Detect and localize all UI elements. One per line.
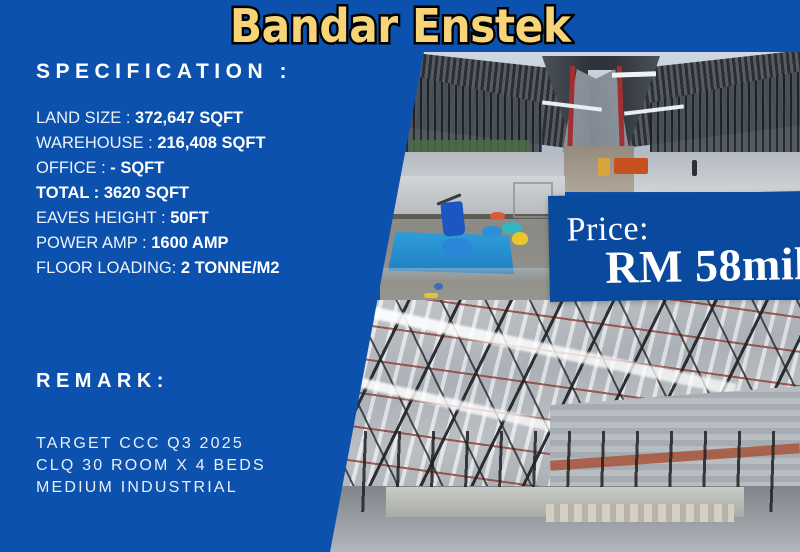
spec-row-eaves-height: EAVES HEIGHT : 50FT	[36, 206, 336, 231]
construction-machine	[614, 158, 648, 174]
spec-row-power-amp: POWER AMP : 1600 AMP	[36, 231, 336, 256]
wet-floor-sheen	[380, 268, 565, 282]
floor-debris-blue	[434, 283, 443, 290]
remark-line-zoning: MEDIUM INDUSTRIAL	[36, 477, 336, 499]
spec-value-floor-loading: 2 TONNE/M2	[181, 259, 280, 277]
spec-row-land-size: LAND SIZE : 372,647 SQFT	[36, 106, 336, 131]
remark-section: REMARK: TARGET CCC Q3 2025 CLQ 30 ROOM X…	[36, 370, 336, 499]
spec-label-warehouse: WAREHOUSE :	[36, 134, 157, 152]
blue-bucket	[440, 201, 465, 237]
specification-section: SPECIFICATION : LAND SIZE : 372,647 SQFT…	[36, 60, 336, 281]
spec-value-total: TOTAL : 3620 SQFT	[36, 184, 189, 202]
spec-label-office: OFFICE :	[36, 159, 110, 177]
poster-header: Bandar Enstek	[0, 0, 800, 52]
property-advertisement-poster: Bandar Enstek SPECIFICATION : LAND SIZE …	[0, 0, 800, 552]
spec-value-warehouse: 216,408 SQFT	[157, 134, 265, 152]
spec-value-office: - SQFT	[110, 159, 164, 177]
spec-value-eaves-height: 50FT	[170, 209, 209, 227]
photo-warehouse-interior-roof-truss	[330, 300, 800, 552]
remark-heading: REMARK:	[36, 370, 336, 393]
remark-line-clq-rooms: CLQ 30 ROOM X 4 BEDS	[36, 455, 336, 477]
spec-label-power-amp: POWER AMP :	[36, 234, 151, 252]
blue-bowl	[482, 226, 502, 237]
spec-value-land-size: 372,647 SQFT	[135, 109, 243, 127]
scaffolding	[513, 182, 553, 218]
spec-row-floor-loading: FLOOR LOADING: 2 TONNE/M2	[36, 256, 336, 281]
photo-construction-floor-buckets	[380, 176, 565, 306]
spec-label-floor-loading: FLOOR LOADING:	[36, 259, 181, 277]
spec-value-power-amp: 1600 AMP	[151, 234, 228, 252]
orange-bowl	[490, 212, 505, 220]
photo-warehouse-exterior-corridor	[392, 52, 800, 192]
stored-goods	[546, 504, 734, 522]
specification-heading: SPECIFICATION :	[36, 60, 336, 84]
price-value: RM 58mil	[605, 237, 800, 294]
spec-row-warehouse: WAREHOUSE : 216,408 SQFT	[36, 131, 336, 156]
yellow-helmet	[512, 232, 528, 245]
spec-label-eaves-height: EAVES HEIGHT :	[36, 209, 170, 227]
blue-basin	[442, 238, 472, 256]
spec-row-office: OFFICE : - SQFT	[36, 156, 336, 181]
floor-debris-yellow	[424, 293, 438, 298]
construction-equipment	[598, 158, 610, 176]
price-box: Price: RM 58mil	[548, 191, 800, 302]
spec-label-land-size: LAND SIZE :	[36, 109, 135, 127]
remark-line-target-ccc: TARGET CCC Q3 2025	[36, 433, 336, 455]
worker-figure	[692, 160, 697, 176]
spec-row-total: TOTAL : 3620 SQFT	[36, 181, 336, 206]
page-title: Bandar Enstek	[230, 3, 571, 49]
